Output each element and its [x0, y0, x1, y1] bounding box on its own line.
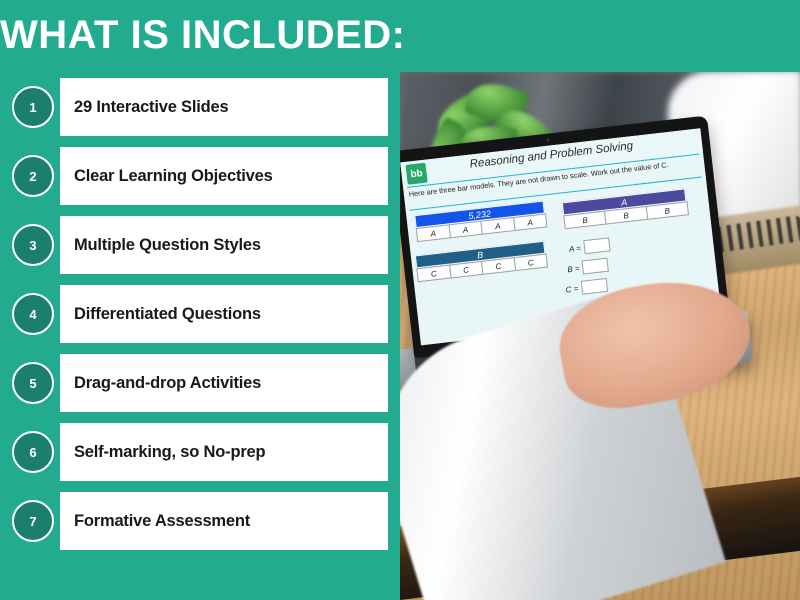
feature-number-badge: 6	[12, 431, 54, 473]
feature-card: Formative Assessment	[60, 492, 388, 550]
feature-card: Drag-and-drop Activities	[60, 354, 388, 412]
answer-input-b[interactable]	[582, 258, 609, 275]
feature-label: Multiple Question Styles	[74, 235, 261, 255]
answer-label-a: A =	[569, 243, 582, 253]
feature-card: Differentiated Questions	[60, 285, 388, 343]
bar-model-c: B C C C C	[415, 241, 547, 283]
feature-card: Clear Learning Objectives	[60, 147, 388, 205]
bar-cell: A	[513, 213, 548, 231]
answer-label-b: B =	[567, 263, 580, 273]
feature-number-badge: 4	[12, 293, 54, 335]
promo-poster: WHAT IS INCLUDED: 29 Interactive Slides …	[0, 0, 800, 600]
feature-number-badge: 3	[12, 224, 54, 266]
feature-label: 29 Interactive Slides	[74, 97, 228, 117]
bar-cell: A	[416, 224, 451, 242]
feature-card: 29 Interactive Slides	[60, 78, 388, 136]
list-item: Clear Learning Objectives 2	[0, 147, 400, 205]
bar-cell: C	[416, 265, 451, 283]
bar-cell: A	[448, 221, 483, 239]
answer-input-a[interactable]	[583, 237, 610, 254]
feature-card: Multiple Question Styles	[60, 216, 388, 274]
laptop-photo: bb Reasoning and Problem Solving Here ar…	[400, 72, 800, 600]
feature-label: Formative Assessment	[74, 511, 250, 531]
answer-label-c: C =	[565, 284, 579, 294]
list-item: Self-marking, so No-prep 6	[0, 423, 400, 481]
feature-number-badge: 7	[12, 500, 54, 542]
feature-label: Drag-and-drop Activities	[74, 373, 261, 393]
feature-list: 29 Interactive Slides 1 Clear Learning O…	[0, 78, 400, 561]
bar-model-b: A B B B	[562, 188, 688, 229]
bar-cell: C	[481, 257, 516, 275]
answer-input-c[interactable]	[580, 278, 607, 295]
feature-number-badge: 1	[12, 86, 54, 128]
answer-row-b: B =	[567, 258, 610, 277]
list-item: Differentiated Questions 4	[0, 285, 400, 343]
feature-label: Clear Learning Objectives	[74, 166, 273, 186]
feature-label: Self-marking, so No-prep	[74, 442, 265, 462]
list-item: Formative Assessment 7	[0, 492, 400, 550]
list-item: Drag-and-drop Activities 5	[0, 354, 400, 412]
bar-cell: A	[480, 217, 515, 235]
list-item: Multiple Question Styles 3	[0, 216, 400, 274]
feature-number-badge: 5	[12, 362, 54, 404]
page-title: WHAT IS INCLUDED:	[0, 8, 400, 62]
answer-row-a: A =	[568, 237, 610, 256]
webcam-icon	[546, 138, 549, 141]
list-item: 29 Interactive Slides 1	[0, 78, 400, 136]
bar-cell: C	[513, 254, 548, 272]
feature-label: Differentiated Questions	[74, 304, 261, 324]
feature-card: Self-marking, so No-prep	[60, 423, 388, 481]
feature-number-badge: 2	[12, 155, 54, 197]
answer-row-c: C =	[565, 278, 608, 297]
bar-cell: C	[449, 261, 484, 279]
